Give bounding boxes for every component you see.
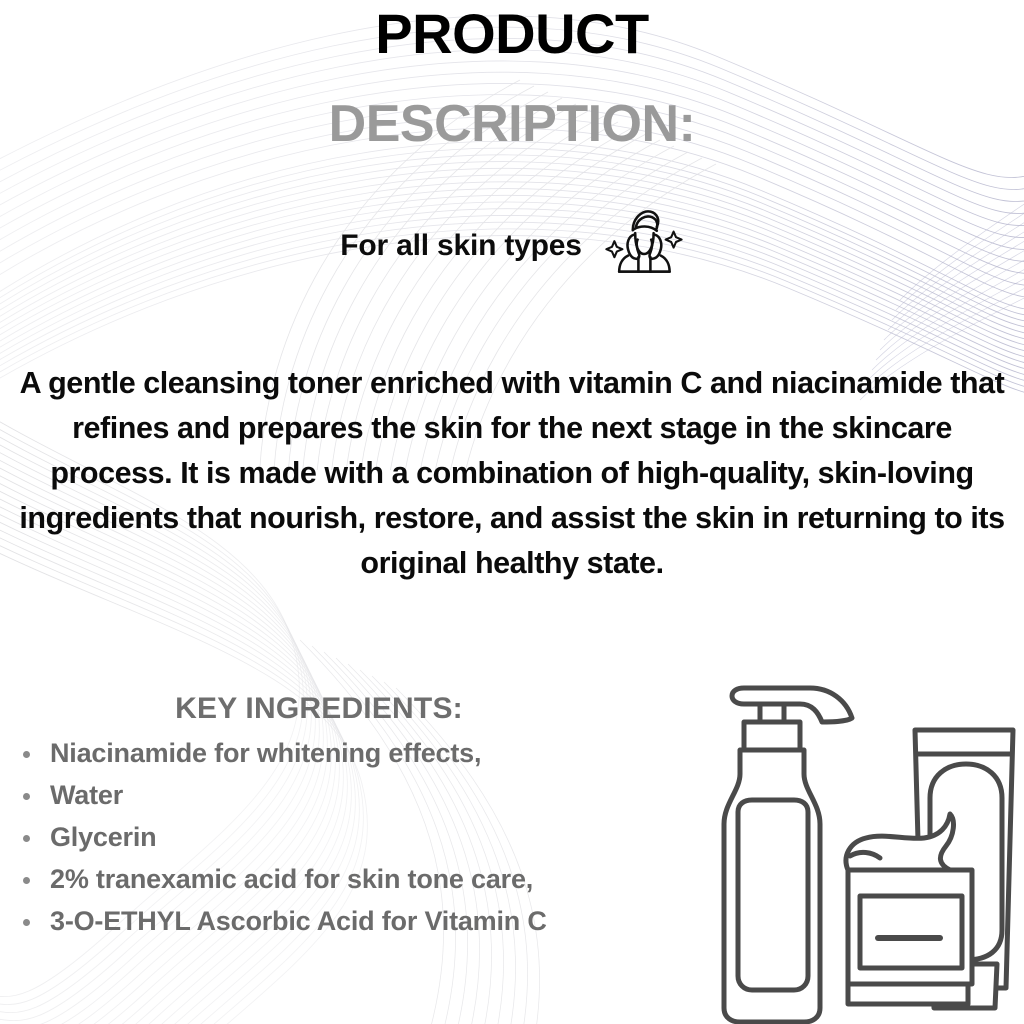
title-line-product: PRODUCT — [0, 6, 1024, 62]
subtitle-label: For all skin types — [340, 229, 581, 263]
list-item: 2% tranexamic acid for skin tone care, — [0, 858, 660, 900]
key-ingredients-section: KEY INGREDIENTS: Niacinamide for whiteni… — [0, 690, 660, 942]
list-item: Niacinamide for whitening effects, — [0, 732, 660, 774]
woman-face-care-icon — [604, 206, 684, 286]
skincare-products-icon — [700, 678, 1016, 1024]
bottle-label — [738, 800, 808, 990]
page-title: PRODUCT DESCRIPTION: — [0, 0, 1024, 150]
subtitle-row: For all skin types — [0, 206, 1024, 286]
list-item: Glycerin — [0, 816, 660, 858]
key-ingredients-heading: KEY INGREDIENTS: — [0, 690, 660, 728]
list-item: Water — [0, 774, 660, 816]
pump-head — [732, 688, 852, 722]
key-ingredients-list: Niacinamide for whitening effects, Water… — [0, 732, 660, 942]
description-paragraph: A gentle cleansing toner enriched with v… — [8, 361, 1016, 586]
product-description-card: PRODUCT DESCRIPTION: For all skin types — [0, 0, 1024, 1024]
list-item: 3-O-ETHYL Ascorbic Acid for Vitamin C — [0, 900, 660, 942]
title-line-description: DESCRIPTION: — [0, 98, 1024, 150]
